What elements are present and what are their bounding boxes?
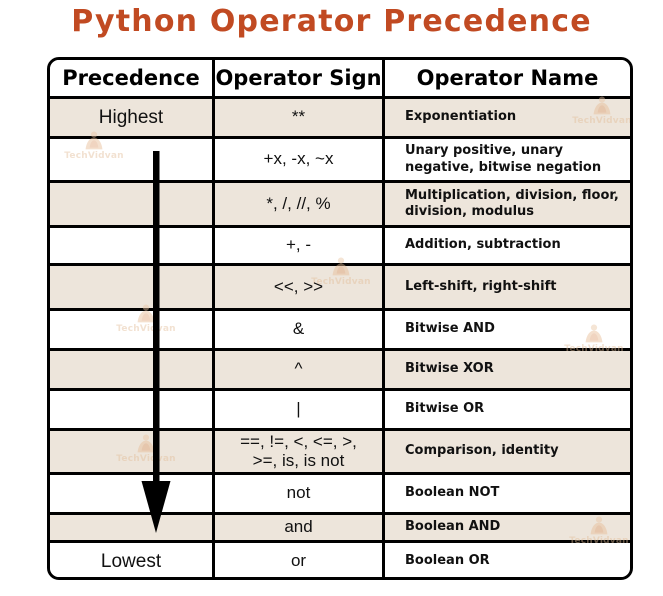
cell-operator-name: Left-shift, right-shift — [385, 266, 630, 308]
precedence-label: Highest — [99, 107, 163, 129]
operator-name-label: Bitwise OR — [405, 401, 484, 417]
table-row: notBoolean NOT — [50, 475, 630, 515]
cell-precedence — [50, 515, 215, 540]
operator-sign-label: +, - — [286, 236, 311, 255]
operator-name-label: Multiplication, division, floor, divisio… — [405, 188, 619, 221]
header-precedence: Precedence — [50, 60, 215, 96]
cell-operator-sign: or — [215, 543, 385, 580]
operator-name-label: Boolean AND — [405, 519, 500, 535]
operator-name-label: Exponentiation — [405, 109, 516, 125]
cell-precedence: Highest — [50, 99, 215, 136]
cell-operator-sign: ** — [215, 99, 385, 136]
cell-operator-sign: *, /, //, % — [215, 183, 385, 225]
operator-name-label: Unary positive, unary negative, bitwise … — [405, 143, 601, 176]
cell-precedence — [50, 475, 215, 512]
table-row: +, -Addition, subtraction — [50, 228, 630, 266]
cell-operator-sign: +, - — [215, 228, 385, 263]
operator-name-label: Bitwise XOR — [405, 361, 494, 377]
operator-sign-label: +x, -x, ~x — [264, 150, 334, 169]
cell-operator-name: Bitwise OR — [385, 391, 630, 428]
cell-operator-sign: and — [215, 515, 385, 540]
operator-sign-label: & — [293, 320, 304, 339]
cell-precedence — [50, 431, 215, 472]
cell-operator-name: Multiplication, division, floor, divisio… — [385, 183, 630, 225]
precedence-table: TechVidvanTechVidvanTechVidvanTechVidvan… — [47, 57, 633, 580]
cell-precedence — [50, 351, 215, 388]
operator-name-label: Left-shift, right-shift — [405, 279, 557, 295]
operator-sign-label: and — [284, 518, 312, 537]
cell-operator-name: Exponentiation — [385, 99, 630, 136]
operator-sign-label: not — [287, 484, 311, 503]
operator-sign-label: <<, >> — [274, 278, 323, 297]
cell-precedence — [50, 391, 215, 428]
cell-operator-name: Boolean OR — [385, 543, 630, 580]
cell-operator-name: Bitwise AND — [385, 311, 630, 348]
cell-operator-name: Comparison, identity — [385, 431, 630, 472]
cell-operator-name: Boolean NOT — [385, 475, 630, 512]
cell-operator-sign: | — [215, 391, 385, 428]
header-operator-name: Operator Name — [385, 60, 630, 96]
cell-precedence: Lowest — [50, 543, 215, 580]
operator-sign-label: ** — [292, 108, 305, 127]
table-row: ^Bitwise XOR — [50, 351, 630, 391]
table-row: ==, !=, <, <=, >, >=, is, is notComparis… — [50, 431, 630, 475]
table-header-row: Precedence Operator Sign Operator Name — [50, 60, 630, 99]
cell-operator-sign: not — [215, 475, 385, 512]
table-row: andBoolean AND — [50, 515, 630, 543]
table-row: &Bitwise AND — [50, 311, 630, 351]
page-title: Python Operator Precedence — [0, 4, 663, 39]
cell-precedence — [50, 183, 215, 225]
cell-operator-name: Boolean AND — [385, 515, 630, 540]
table-row: LowestorBoolean OR — [50, 543, 630, 580]
operator-sign-label: ==, !=, <, <=, >, >=, is, is not — [240, 433, 357, 470]
cell-precedence — [50, 311, 215, 348]
operator-name-label: Boolean OR — [405, 553, 490, 569]
operator-sign-label: | — [296, 400, 300, 419]
table-row: Highest**Exponentiation — [50, 99, 630, 139]
operator-name-label: Bitwise AND — [405, 321, 495, 337]
header-operator-sign: Operator Sign — [215, 60, 385, 96]
table-row: |Bitwise OR — [50, 391, 630, 431]
cell-operator-name: Bitwise XOR — [385, 351, 630, 388]
operator-name-label: Comparison, identity — [405, 443, 559, 459]
cell-operator-sign: & — [215, 311, 385, 348]
cell-operator-sign: ==, !=, <, <=, >, >=, is, is not — [215, 431, 385, 472]
cell-precedence — [50, 228, 215, 263]
table-row: *, /, //, %Multiplication, division, flo… — [50, 183, 630, 228]
operator-sign-label: ^ — [295, 360, 303, 379]
cell-operator-sign: ^ — [215, 351, 385, 388]
precedence-label: Lowest — [101, 551, 161, 573]
cell-operator-name: Unary positive, unary negative, bitwise … — [385, 139, 630, 180]
operator-sign-label: or — [291, 552, 306, 571]
operator-name-label: Boolean NOT — [405, 485, 499, 501]
table-row: +x, -x, ~xUnary positive, unary negative… — [50, 139, 630, 183]
cell-operator-name: Addition, subtraction — [385, 228, 630, 263]
cell-precedence — [50, 139, 215, 180]
operator-name-label: Addition, subtraction — [405, 237, 561, 253]
cell-operator-sign: +x, -x, ~x — [215, 139, 385, 180]
table-row: <<, >>Left-shift, right-shift — [50, 266, 630, 311]
operator-sign-label: *, /, //, % — [266, 195, 330, 214]
cell-operator-sign: <<, >> — [215, 266, 385, 308]
cell-precedence — [50, 266, 215, 308]
